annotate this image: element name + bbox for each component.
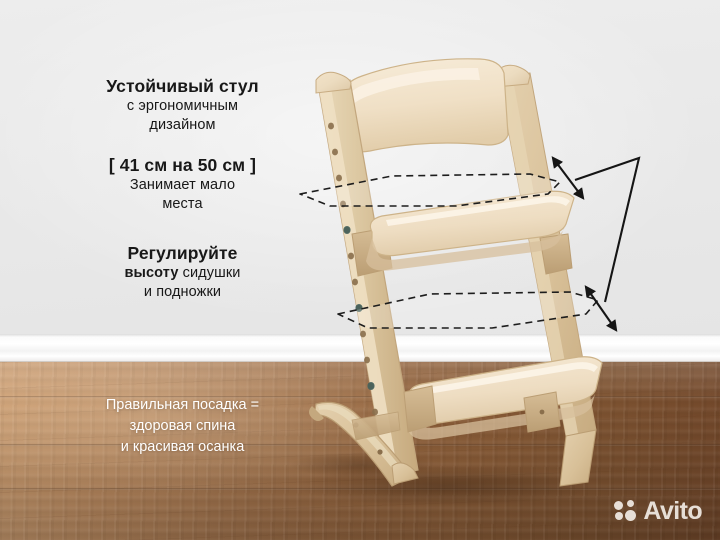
- copy-line: Правильная посадка =: [60, 395, 305, 416]
- copy-line: Устойчивый стул: [70, 76, 295, 97]
- copy-line-dimensions: [ 41 см на 50 см ]: [70, 155, 295, 176]
- copy-line: с эргономичным: [70, 97, 295, 116]
- copy-block-footprint: [ 41 см на 50 см ] Занимает мало места: [70, 155, 295, 214]
- product-image-canvas: Устойчивый стул с эргономичным дизайном …: [0, 0, 720, 540]
- copy-emphasis: высоту: [125, 265, 179, 281]
- copy-line: Занимает мало: [70, 176, 295, 195]
- copy-line: Регулируйте: [70, 243, 295, 264]
- copy-line: дизайном: [70, 116, 295, 135]
- avito-wordmark: Avito: [643, 500, 702, 522]
- copy-rest: сидушки: [179, 265, 241, 281]
- avito-dots-icon: [614, 500, 637, 522]
- double-headed-height-arrow-footrest: [586, 287, 616, 330]
- copy-line: и подножки: [70, 283, 295, 302]
- avito-watermark: Avito: [614, 500, 702, 522]
- copy-block-stability: Устойчивый стул с эргономичным дизайном: [70, 76, 295, 135]
- copy-block-posture: Правильная посадка = здоровая спина и кр…: [60, 395, 305, 458]
- copy-line: и красивая осанка: [60, 437, 305, 458]
- copy-line-mixed: высоту сидушки: [70, 264, 295, 283]
- copy-line: места: [70, 195, 295, 214]
- copy-line: здоровая спина: [60, 416, 305, 437]
- copy-block-adjustable: Регулируйте высоту сидушки и подножки: [70, 243, 295, 302]
- bracket-connector-line: [575, 158, 639, 302]
